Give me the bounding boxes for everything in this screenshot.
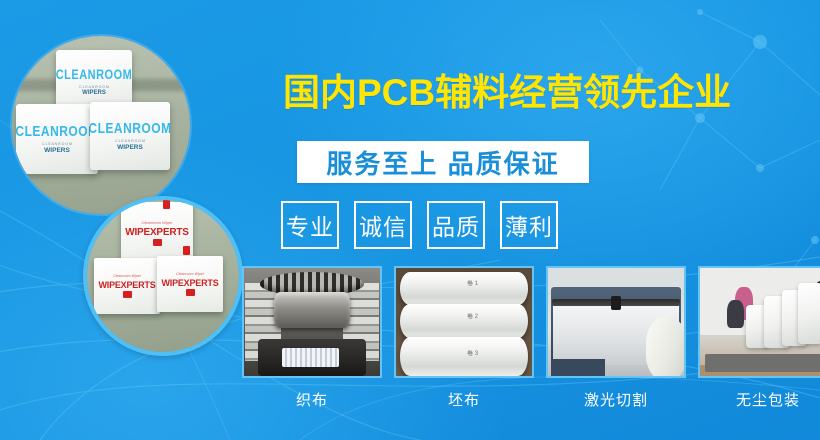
process-caption: 织布 [242,389,382,410]
laser-cutting-photo [546,266,686,378]
fabric-rolls-photo: 卷 1 卷 2 卷 3 [394,266,534,378]
feature-tag-integrity: 诚信 [354,201,412,249]
package-brand-text: CLEANROOM [16,122,98,140]
feature-tag-quality: 品质 [427,201,485,249]
banner-headline: 国内PCB辅料经营领先企业 [283,74,731,111]
process-item-laser-cutting: 激光切割 [546,266,686,410]
tagline-text: 服务至上 品质保证 [326,144,559,181]
package-brand-text: CLEANROOM [90,119,170,137]
process-caption: 坯布 [394,389,534,410]
process-photo-strip: 织布 卷 1 卷 2 卷 3 坯布 激光切割 [242,266,820,410]
package-brand-text: WIPEXPERTS [98,280,155,290]
package-brand-text: WIPEXPERTS [125,227,189,238]
process-item-weaving: 织布 [242,266,382,410]
package-wipexperts-right: Cleanroom Wiper WIPEXPERTS [157,256,223,312]
product-circle-cleanroom: CLEANROOM C L E A N R O O M WIPERS CLEAN… [12,36,190,214]
package-wipexperts-back: Cleanroom Wiper WIPEXPERTS [121,202,193,264]
knitting-machine-photo [242,266,382,378]
promo-banner: CLEANROOM C L E A N R O O M WIPERS CLEAN… [0,0,820,440]
feature-tag-professional: 专业 [281,201,339,249]
package-cleanroom-left: CLEANROOM C L E A N R O O M WIPERS [16,104,98,174]
process-caption: 无尘包装 [698,389,820,410]
package-brand-text: WIPEXPERTS [161,278,218,288]
cleanroom-packing-photo [698,266,820,378]
package-cleanroom-right: CLEANROOM C L E A N R O O M WIPERS [90,102,170,170]
package-wipexperts-left: Cleanroom Wiper WIPEXPERTS [94,258,160,314]
package-brand-text: CLEANROOM [56,67,132,82]
feature-tag-low-margin: 薄利 [500,201,558,249]
product-circle-wipexperts: Cleanroom Wiper WIPEXPERTS Cleanroom Wip… [83,196,243,356]
feature-tag-list: 专业 诚信 品质 薄利 [281,201,558,249]
process-item-greige-fabric: 卷 1 卷 2 卷 3 坯布 [394,266,534,410]
process-item-cleanroom-packing: 无尘包装 [698,266,820,410]
process-caption: 激光切割 [546,389,686,410]
tagline-bar: 服务至上 品质保证 [297,141,589,183]
